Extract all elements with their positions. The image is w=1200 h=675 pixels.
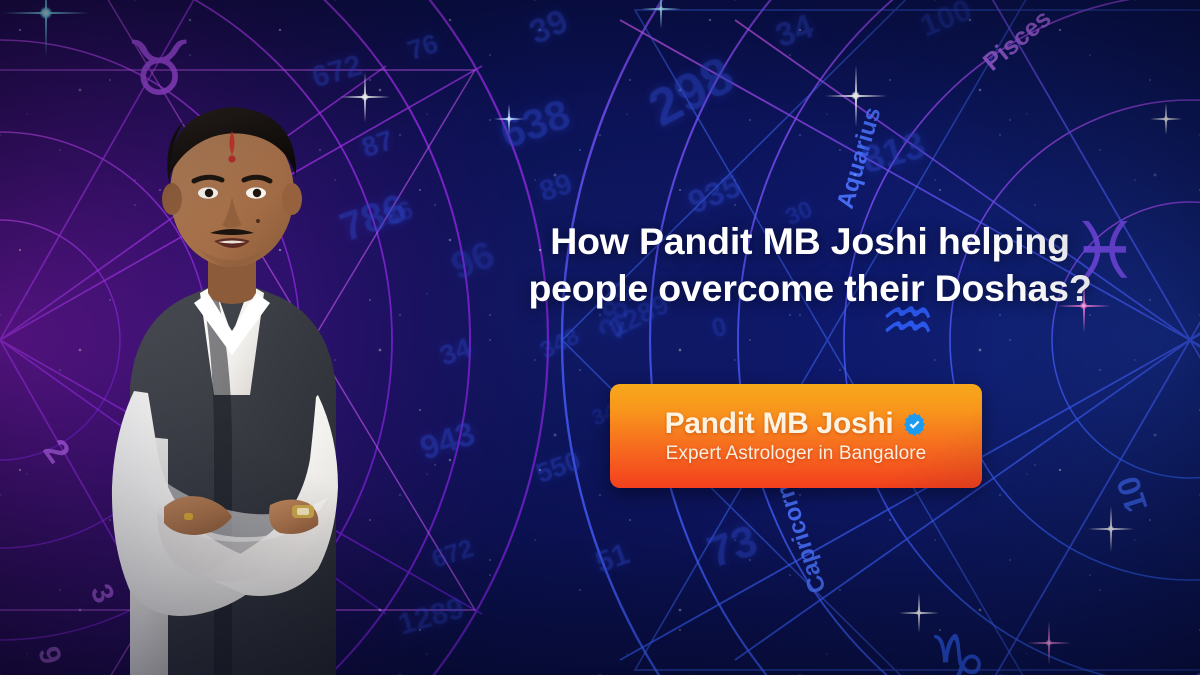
badge-title-row: Pandit MB Joshi — [665, 407, 928, 441]
headline-line-2: people overcome their Doshas? — [440, 265, 1180, 312]
background-number: 672 — [308, 49, 365, 95]
starfield-layer-3 — [0, 0, 1200, 675]
svg-text:9: 9 — [31, 643, 67, 668]
astrologer-badge[interactable]: Pandit MB Joshi Expert Astrologer in Ban… — [610, 384, 982, 488]
background-number: 0 — [708, 311, 730, 345]
zodiac-wheel-right: Pisces ♓ Aquarius ♒ Capricorn ♑ Sagittar… — [760, 0, 1200, 675]
background-number: 935 — [683, 167, 746, 221]
background-number: 813 — [857, 124, 930, 183]
background-number: 87 — [358, 124, 398, 164]
headline-line-1: How Pandit MB Joshi helping — [440, 218, 1180, 265]
svg-text:3: 3 — [84, 579, 121, 608]
background-number: 34 — [771, 7, 819, 55]
background-number: 36 — [380, 194, 418, 233]
sparkle-star-icon — [1048, 642, 1049, 643]
page-title: How Pandit MB Joshi helping people overc… — [440, 218, 1180, 312]
sparkle-star-icon — [1110, 528, 1111, 529]
background-number: 73 — [701, 516, 763, 579]
sparkle-star-icon — [45, 12, 46, 13]
background-number: 638 — [494, 89, 576, 158]
svg-text:♉: ♉ — [125, 24, 193, 113]
background-number: 298 — [639, 45, 744, 139]
svg-text:Capricorn: Capricorn — [771, 480, 832, 596]
svg-text:10: 10 — [1109, 472, 1154, 517]
background-number: 34 — [435, 332, 475, 373]
background-number: 39 — [524, 2, 574, 53]
sparkle-star-icon — [1165, 118, 1166, 119]
background-number: 348 — [536, 323, 584, 366]
svg-text:Pisces: Pisces — [978, 4, 1057, 76]
zodiac-wheel-left: Taurus ♉ 2 3 9 ♈ — [0, 0, 430, 675]
background-number: 943 — [415, 414, 479, 467]
svg-text:2: 2 — [36, 432, 78, 470]
starfield-layer-2 — [0, 0, 1200, 675]
sparkle-star-icon — [855, 95, 856, 96]
svg-text:♑: ♑ — [928, 621, 987, 675]
sparkle-star-icon — [232, 602, 233, 603]
background-number: 76 — [404, 28, 442, 67]
badge-title: Pandit MB Joshi — [665, 407, 894, 441]
badge-subtitle: Expert Astrologer in Bangalore — [666, 443, 927, 465]
background-number: 100 — [915, 0, 976, 44]
background-number: 550 — [532, 445, 585, 490]
promo-banner: Taurus ♉ 2 3 9 ♈ — [0, 0, 1200, 675]
sparkle-star-icon — [918, 612, 919, 613]
sparkle-star-icon — [660, 8, 661, 9]
background-number: 89 — [536, 168, 577, 209]
vignette-overlay — [0, 0, 1200, 675]
sparkle-star-icon — [508, 118, 509, 119]
starfield-layer-1 — [0, 0, 1200, 675]
svg-text:Aquarius: Aquarius — [832, 104, 887, 211]
verified-check-icon — [902, 412, 927, 437]
background-number: 786 — [334, 186, 412, 251]
astrologer-photo — [18, 35, 438, 675]
svg-text:9: 9 — [1183, 664, 1200, 675]
background-number: 51 — [591, 537, 634, 580]
background-number: 1289 — [395, 591, 469, 642]
sparkle-star-icon — [364, 96, 365, 97]
background-number: 672 — [429, 534, 478, 574]
